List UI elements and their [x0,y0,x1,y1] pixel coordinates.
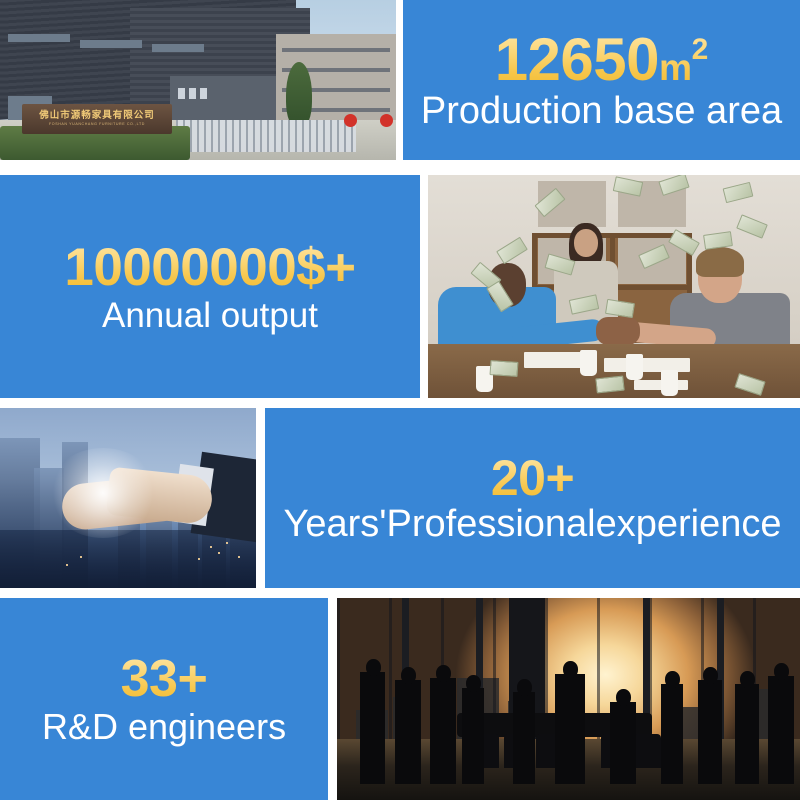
city-night-lights [0,530,256,588]
factory-window [152,44,204,52]
person-silhouette [610,702,636,784]
lens-flare [48,448,158,538]
photo-boardroom-silhouettes [337,598,800,800]
person-silhouette [360,672,385,784]
factory-window [200,88,207,99]
person-silhouette [698,680,722,784]
stat-panel-years-experience: 20+ Years'Professionalexperience [265,408,800,588]
factory-window [189,88,196,99]
factory-gate [176,120,356,152]
stat-caption-years-experience: Years'Professionalexperience [283,505,781,543]
coffee-cup [661,370,678,396]
banknote-on-desk [490,360,519,377]
person-silhouette [462,688,484,784]
person-silhouette [513,692,535,784]
coffee-cup [580,350,597,376]
person-silhouette [661,684,683,784]
stat-value-annual-output: 10000000$+ [64,241,355,294]
stat-caption-annual-output: Annual output [102,298,318,333]
photo-business-handshake-money [428,175,800,398]
stat-number: 12650 [495,26,659,93]
person-right-hair [696,247,744,277]
factory-window [80,40,142,48]
banknote-on-desk [595,376,624,394]
coffee-cup [626,354,643,380]
photo-handshake-cityscape [0,408,256,588]
stat-caption-production-base-area: Production base area [421,92,782,130]
person-silhouette [735,684,759,784]
stat-panel-rd-engineers: 33+ R&D engineers [0,598,328,800]
company-sign: 佛山市源畅家具有限公司 FOSHAN YUANCHANG FURNITURE C… [22,104,172,134]
stat-unit: m [659,46,692,88]
company-sign-chinese: 佛山市源畅家具有限公司 [39,111,155,121]
infographic-board: 佛山市源畅家具有限公司 FOSHAN YUANCHANG FURNITURE C… [0,0,800,800]
person-silhouette [395,680,421,784]
person-woman-head [574,229,598,257]
factory-window [178,88,185,99]
stat-caption-rd-engineers: R&D engineers [42,709,286,745]
stat-value-rd-engineers: 33+ [121,653,208,705]
stat-panel-annual-output: 10000000$+ Annual output [0,175,420,398]
stat-value-years-experience: 20+ [491,453,574,503]
red-lantern [380,114,393,127]
person-silhouette [430,678,456,784]
factory-window [8,34,70,42]
stat-value-production-base-area: 12650m2 [495,30,709,90]
handshake [596,317,640,345]
stat-unit-superscript: 2 [692,33,709,66]
tree [286,62,312,128]
company-sign-english: FOSHAN YUANCHANG FURNITURE CO.,LTD [49,123,145,127]
stat-panel-production-base-area: 12650m2 Production base area [403,0,800,160]
photo-factory-exterior: 佛山市源畅家具有限公司 FOSHAN YUANCHANG FURNITURE C… [0,0,396,160]
person-silhouette [768,676,794,784]
person-silhouette [555,674,585,784]
red-lantern [344,114,357,127]
